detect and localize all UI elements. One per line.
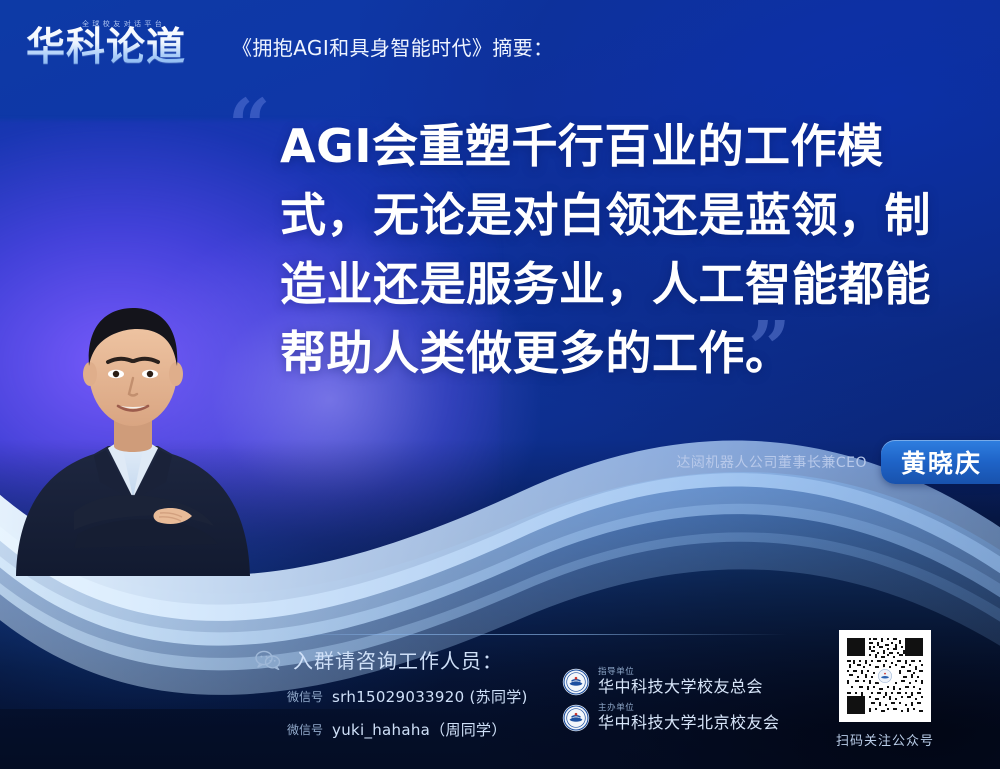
qr-code-icon[interactable] (839, 630, 931, 722)
organization-row: 指导单位 华中科技大学校友总会 (562, 668, 780, 696)
footer-title: 入群请咨询工作人员： (293, 645, 503, 674)
quote-line: 帮助人类做更多的工作。 (280, 319, 940, 388)
contact-label: 微信号 (287, 721, 323, 738)
footer-divider (288, 634, 788, 635)
organization-kind: 指导单位 (598, 668, 763, 677)
brand-logo: 全球校友对话平台 华科论道 (26, 17, 218, 75)
quote-line: AGI会重塑千行百业的工作模 (280, 112, 940, 181)
speaker-name-badge: 黄晓庆 (881, 440, 1000, 484)
contact-value: srh15029033920 (苏同学) (332, 686, 528, 707)
hust-seal-icon (562, 668, 590, 696)
qr-block: 扫码关注公众号 (833, 630, 937, 749)
organization-list: 指导单位 华中科技大学校友总会 主办单位 华中科技大学北京校友会 (562, 668, 780, 740)
contact-label: 微信号 (287, 688, 323, 705)
speaker-role: 达闼机器人公司董事长兼CEO (676, 452, 867, 472)
page-title: 《拥抱AGI和具身智能时代》摘要： (232, 32, 554, 61)
organization-name: 华中科技大学北京校友会 (598, 715, 780, 732)
quote-text: AGI会重塑千行百业的工作模 式，无论是对白领还是蓝领，制 造业还是服务业，人工… (280, 112, 940, 388)
organization-text: 主办单位 华中科技大学北京校友会 (598, 704, 780, 732)
quote-line: 式，无论是对白领还是蓝领，制 (280, 181, 940, 250)
contact-value: yuki_hahaha（周同学） (332, 719, 507, 740)
header: 全球校友对话平台 华科论道 《拥抱AGI和具身智能时代》摘要： (0, 0, 1000, 92)
qr-center-logo (876, 667, 894, 685)
organization-text: 指导单位 华中科技大学校友总会 (598, 668, 763, 696)
logo-wordmark: 华科论道 (26, 26, 186, 70)
qr-caption: 扫码关注公众号 (833, 730, 937, 749)
quote-open-mark: “ (228, 90, 269, 164)
quote-line: 造业还是服务业，人工智能都能 (280, 250, 940, 319)
wechat-icon (255, 650, 281, 670)
organization-kind: 主办单位 (598, 704, 780, 713)
quote-close-mark: ” (748, 312, 789, 386)
organization-row: 主办单位 华中科技大学北京校友会 (562, 704, 780, 732)
speaker-portrait (8, 286, 258, 576)
poster-canvas: 全球校友对话平台 华科论道 《拥抱AGI和具身智能时代》摘要： “ AGI会重塑… (0, 0, 1000, 769)
organization-name: 华中科技大学校友总会 (598, 679, 763, 696)
attribution: 达闼机器人公司董事长兼CEO 黄晓庆 (676, 440, 1000, 484)
hust-seal-icon (562, 704, 590, 732)
